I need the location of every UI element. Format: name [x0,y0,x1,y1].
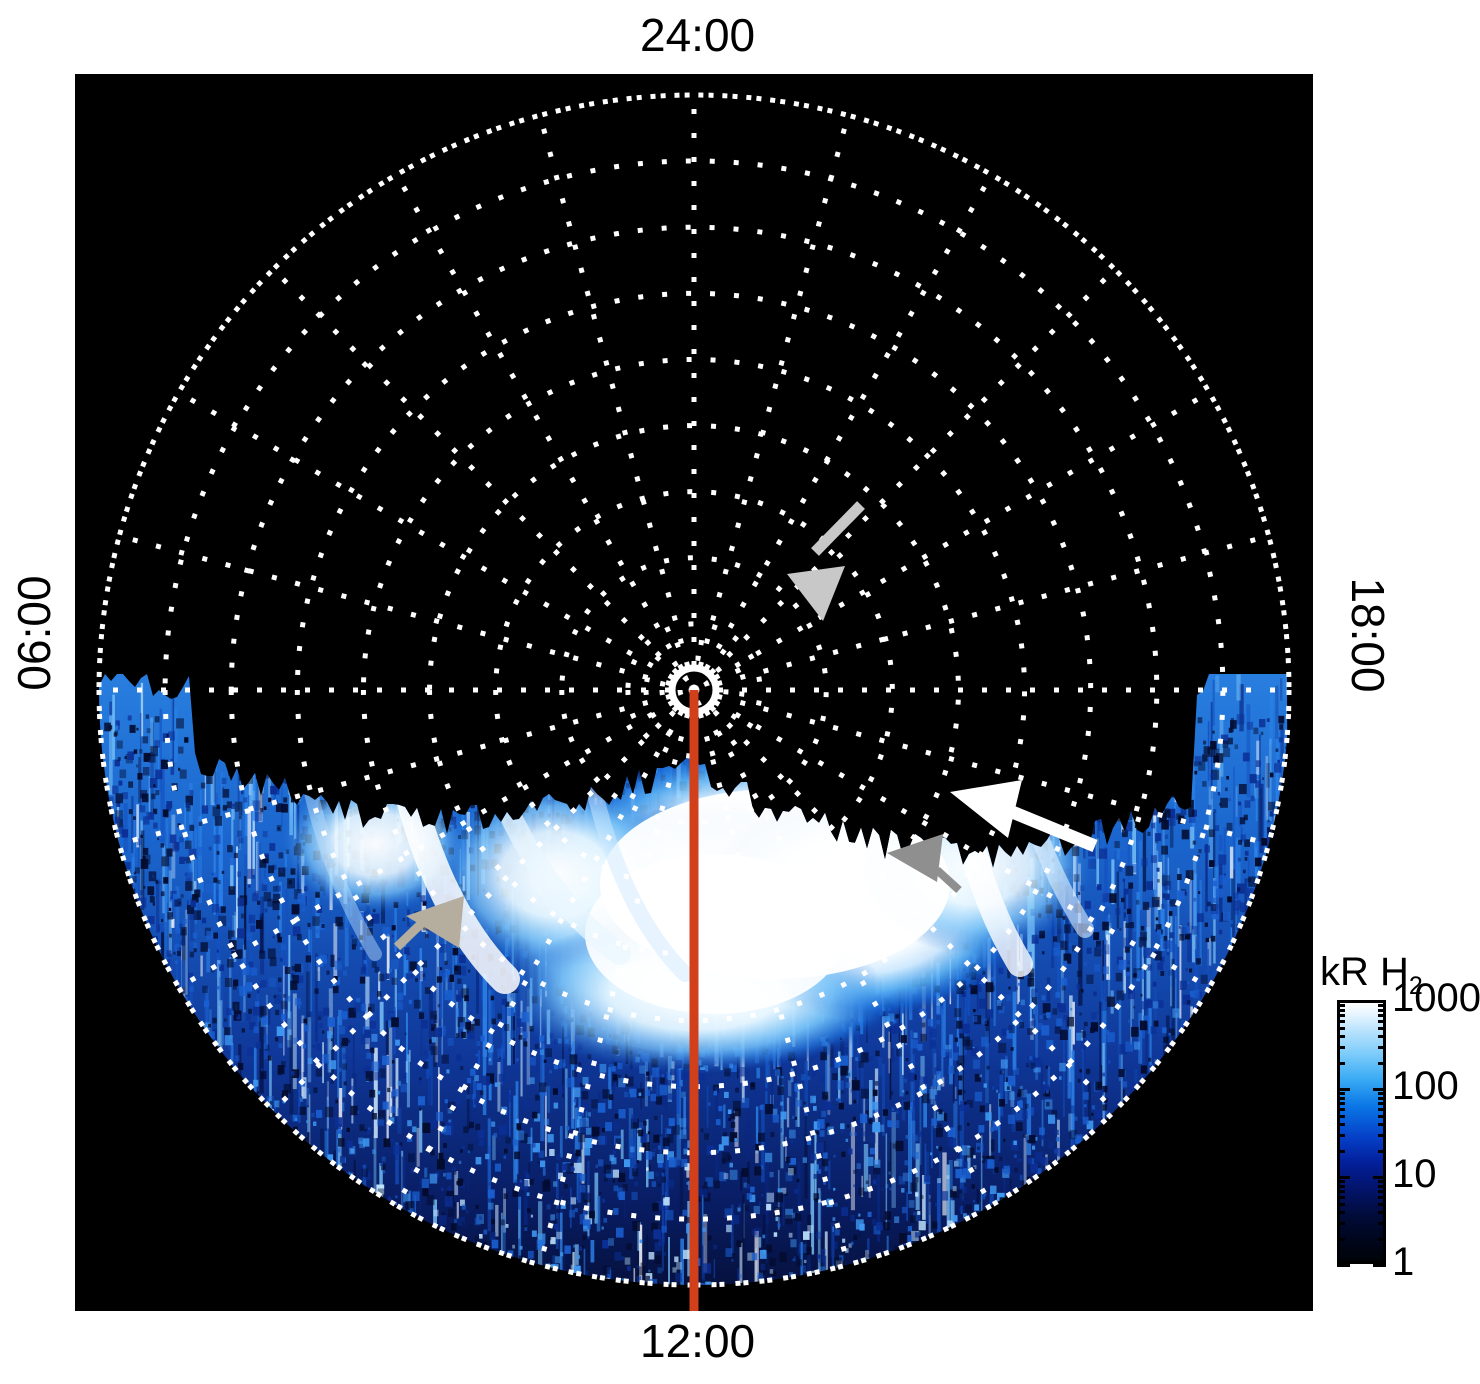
colorbar-minor-tick [1337,1185,1345,1188]
colorbar-tick-label: 100 [1392,1066,1459,1106]
colorbar-minor-tick [1378,1222,1386,1225]
colorbar-minor-tick [1337,1004,1345,1007]
colorbar-tick-label: 1 [1392,1242,1414,1282]
colorbar-minor-tick [1337,1190,1345,1193]
colorbar-minor-tick [1337,1097,1345,1100]
colorbar-minor-tick [1378,1046,1386,1049]
colorbar-minor-tick [1337,1180,1345,1183]
colorbar-major-tick [1373,1176,1386,1179]
colorbar-major-tick [1373,1088,1386,1091]
colorbar-minor-tick [1378,1185,1386,1188]
colorbar-minor-tick [1378,1014,1386,1017]
colorbar-minor-tick [1378,1150,1386,1153]
colorbar-major-tick [1337,1088,1350,1091]
mlt-label-top: 24:00 [640,12,755,58]
colorbar-minor-tick [1378,1062,1386,1065]
colorbar-minor-tick [1378,1190,1386,1193]
colorbar-minor-tick [1378,1123,1386,1126]
colorbar-minor-tick [1378,1102,1386,1105]
colorbar-minor-tick [1337,1222,1345,1225]
colorbar-minor-tick [1337,1014,1345,1017]
colorbar-major-tick [1373,1000,1386,1003]
polar-aurora-plot [75,74,1313,1311]
colorbar-minor-tick [1378,1009,1386,1012]
colorbar-minor-tick [1337,1020,1345,1023]
colorbar-minor-tick [1337,1108,1345,1111]
colorbar-minor-tick [1337,1115,1345,1118]
colorbar-minor-tick [1337,1035,1345,1038]
colorbar-minor-tick [1337,1027,1345,1030]
colorbar-major-tick [1373,1264,1386,1267]
colorbar-major-tick [1337,1000,1350,1003]
colorbar-minor-tick [1337,1046,1345,1049]
colorbar-major-tick [1337,1264,1350,1267]
colorbar-minor-tick [1337,1134,1345,1137]
colorbar-minor-tick [1378,1027,1386,1030]
colorbar-minor-tick [1378,1203,1386,1206]
colorbar-minor-tick [1378,1115,1386,1118]
colorbar-minor-tick [1378,1092,1386,1095]
colorbar-minor-tick [1378,1004,1386,1007]
colorbar: kR H2 1000100101 [1318,952,1480,1320]
mlt-label-right: 18:00 [1345,555,1391,715]
colorbar-minor-tick [1378,1020,1386,1023]
colorbar-minor-tick [1378,1108,1386,1111]
colorbar-minor-tick [1378,1180,1386,1183]
colorbar-minor-tick [1337,1211,1345,1214]
colorbar-minor-tick [1378,1238,1386,1241]
colorbar-minor-tick [1378,1097,1386,1100]
colorbar-minor-tick [1337,1102,1345,1105]
colorbar-minor-tick [1378,1211,1386,1214]
colorbar-minor-tick [1378,1196,1386,1199]
colorbar-minor-tick [1337,1092,1345,1095]
colorbar-major-tick [1337,1176,1350,1179]
colorbar-minor-tick [1337,1009,1345,1012]
colorbar-minor-tick [1337,1150,1345,1153]
colorbar-minor-tick [1337,1203,1345,1206]
aurora-image-canvas [75,74,1313,1311]
colorbar-minor-tick [1337,1123,1345,1126]
colorbar-minor-tick [1337,1238,1345,1241]
colorbar-tick-label: 1000 [1392,978,1480,1018]
colorbar-minor-tick [1378,1035,1386,1038]
mlt-label-bottom: 12:00 [640,1318,755,1364]
colorbar-minor-tick [1378,1134,1386,1137]
colorbar-tick-label: 10 [1392,1154,1437,1194]
mlt-label-left: 06:00 [11,553,57,713]
colorbar-minor-tick [1337,1196,1345,1199]
colorbar-minor-tick [1337,1062,1345,1065]
